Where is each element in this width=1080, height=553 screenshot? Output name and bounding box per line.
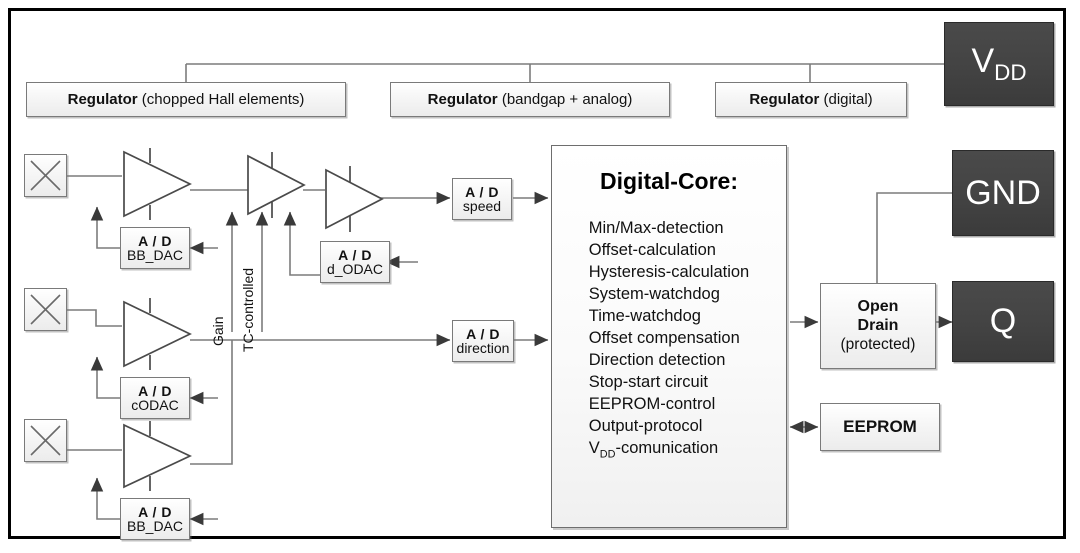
pin-q-label: Q bbox=[990, 302, 1016, 341]
digital-core-function: VDD-comunication bbox=[589, 437, 749, 462]
digital-core-function: Hysteresis-calculation bbox=[589, 261, 749, 283]
converter-ad-direction[interactable]: A / D direction bbox=[452, 320, 514, 362]
pin-vdd[interactable]: VDD bbox=[944, 22, 1054, 106]
open-drain-line2: Drain bbox=[858, 317, 899, 336]
converter-name-label: speed bbox=[463, 199, 501, 213]
pin-gnd-label: GND bbox=[965, 174, 1041, 213]
open-drain-line1: Open bbox=[858, 298, 899, 317]
digital-core-function: Output-protocol bbox=[589, 415, 749, 437]
regulator-digital-box[interactable]: Regulator (digital) bbox=[715, 82, 907, 117]
digital-core-function: Offset compensation bbox=[589, 327, 749, 349]
converter-type-label: A / D bbox=[138, 505, 172, 519]
regulator-digital-label: Regulator (digital) bbox=[749, 91, 872, 108]
converter-name-label: d_ODAC bbox=[327, 262, 383, 276]
converter-name-label: direction bbox=[457, 341, 510, 355]
digital-core-function: Min/Max-detection bbox=[589, 217, 749, 239]
converter-ad-speed[interactable]: A / D speed bbox=[452, 178, 512, 220]
digital-core-block[interactable]: Digital-Core: Min/Max-detectionOffset-ca… bbox=[551, 145, 787, 528]
regulator-hall-label: Regulator (chopped Hall elements) bbox=[68, 91, 305, 108]
hall-element-2[interactable] bbox=[24, 288, 67, 331]
converter-type-label: A / D bbox=[138, 384, 172, 398]
converter-name-label: cODAC bbox=[131, 398, 178, 412]
open-drain-line3: (protected) bbox=[841, 336, 916, 354]
converter-type-label: A / D bbox=[338, 248, 372, 262]
pin-vdd-label: VDD bbox=[971, 42, 1026, 86]
converter-d-odac[interactable]: A / D d_ODAC bbox=[320, 241, 390, 283]
converter-type-label: A / D bbox=[138, 234, 172, 248]
converter-bb-dac-top[interactable]: A / D BB_DAC bbox=[120, 227, 190, 269]
regulator-analog-label: Regulator (bandgap + analog) bbox=[428, 91, 633, 108]
regulator-analog-box[interactable]: Regulator (bandgap + analog) bbox=[390, 82, 670, 117]
digital-core-title: Digital-Core: bbox=[600, 168, 738, 195]
eeprom-block[interactable]: EEPROM bbox=[820, 403, 940, 451]
pin-q[interactable]: Q bbox=[952, 281, 1054, 362]
digital-core-function: Offset-calculation bbox=[589, 239, 749, 261]
digital-core-function: Time-watchdog bbox=[589, 305, 749, 327]
digital-core-function: Stop-start circuit bbox=[589, 371, 749, 393]
hall-element-cross-icon bbox=[25, 420, 66, 461]
pin-gnd[interactable]: GND bbox=[952, 150, 1054, 236]
converter-name-label: BB_DAC bbox=[127, 519, 183, 533]
converter-name-label: BB_DAC bbox=[127, 248, 183, 262]
digital-core-function: Direction detection bbox=[589, 349, 749, 371]
hall-element-3[interactable] bbox=[24, 419, 67, 462]
hall-element-1[interactable] bbox=[24, 154, 67, 197]
hall-element-cross-icon bbox=[25, 289, 66, 330]
converter-c-odac[interactable]: A / D cODAC bbox=[120, 377, 190, 419]
digital-core-function: EEPROM-control bbox=[589, 393, 749, 415]
eeprom-label: EEPROM bbox=[843, 417, 917, 437]
tc-controlled-label: TC-controlled bbox=[240, 268, 256, 352]
converter-bb-dac-bottom[interactable]: A / D BB_DAC bbox=[120, 498, 190, 540]
digital-core-function: System-watchdog bbox=[589, 283, 749, 305]
digital-core-function-list: Min/Max-detectionOffset-calculationHyste… bbox=[589, 217, 749, 462]
gain-label: Gain bbox=[210, 316, 226, 346]
regulator-hall-box[interactable]: Regulator (chopped Hall elements) bbox=[26, 82, 346, 117]
converter-type-label: A / D bbox=[465, 185, 499, 199]
hall-element-cross-icon bbox=[25, 155, 66, 196]
converter-type-label: A / D bbox=[466, 327, 500, 341]
open-drain-block[interactable]: Open Drain (protected) bbox=[820, 283, 936, 369]
block-diagram-canvas: Regulator (chopped Hall elements) Regula… bbox=[0, 0, 1080, 553]
